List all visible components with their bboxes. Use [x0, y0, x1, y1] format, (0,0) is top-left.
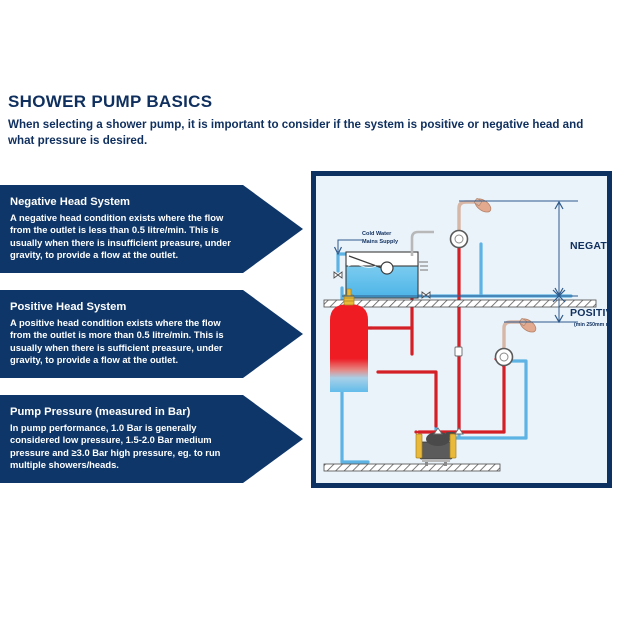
banner-body: A positive head condition exists where t…	[10, 317, 235, 367]
plumbing-system-diagram: Cold Water Mains Supply NEGATIVE HEAD PO…	[316, 176, 607, 483]
banner-title: Pump Pressure (measured in Bar)	[10, 405, 235, 420]
label-negative-head: NEGATIVE HEAD	[570, 240, 607, 252]
banner-text-block: Positive Head System A positive head con…	[0, 290, 249, 377]
banner-text-block: Pump Pressure (measured in Bar) In pump …	[0, 395, 249, 482]
banner-title: Positive Head System	[10, 300, 235, 315]
banner-text-block: Negative Head System A negative head con…	[0, 185, 249, 272]
cold-water-tank-icon	[346, 252, 428, 298]
page-subtitle: When selecting a shower pump, it is impo…	[8, 117, 608, 149]
shower-head-upper-icon	[451, 196, 494, 247]
banner-body: A negative head condition exists where t…	[10, 212, 235, 262]
label-cold-water-line1: Cold Water	[362, 231, 392, 237]
banner-title: Negative Head System	[10, 195, 235, 210]
shower-pump-icon	[416, 432, 456, 466]
diagram-panel: Cold Water Mains Supply NEGATIVE HEAD PO…	[311, 171, 612, 488]
banner-body: In pump performance, 1.0 Bar is generall…	[10, 422, 235, 472]
banner-pump-pressure: Pump Pressure (measured in Bar) In pump …	[0, 395, 303, 483]
label-positive-head-note: (min 250mm required)	[574, 322, 607, 328]
shower-head-lower-icon	[496, 316, 539, 365]
page-title: SHOWER PUMP BASICS	[8, 92, 212, 112]
banner-positive-head: Positive Head System A positive head con…	[0, 290, 303, 378]
diagram-canvas: Cold Water Mains Supply NEGATIVE HEAD PO…	[316, 176, 607, 483]
banner-negative-head: Negative Head System A negative head con…	[0, 185, 303, 273]
label-positive-head: POSITIVE HEAD	[570, 307, 607, 319]
label-cold-water-line2: Mains Supply	[362, 239, 399, 245]
